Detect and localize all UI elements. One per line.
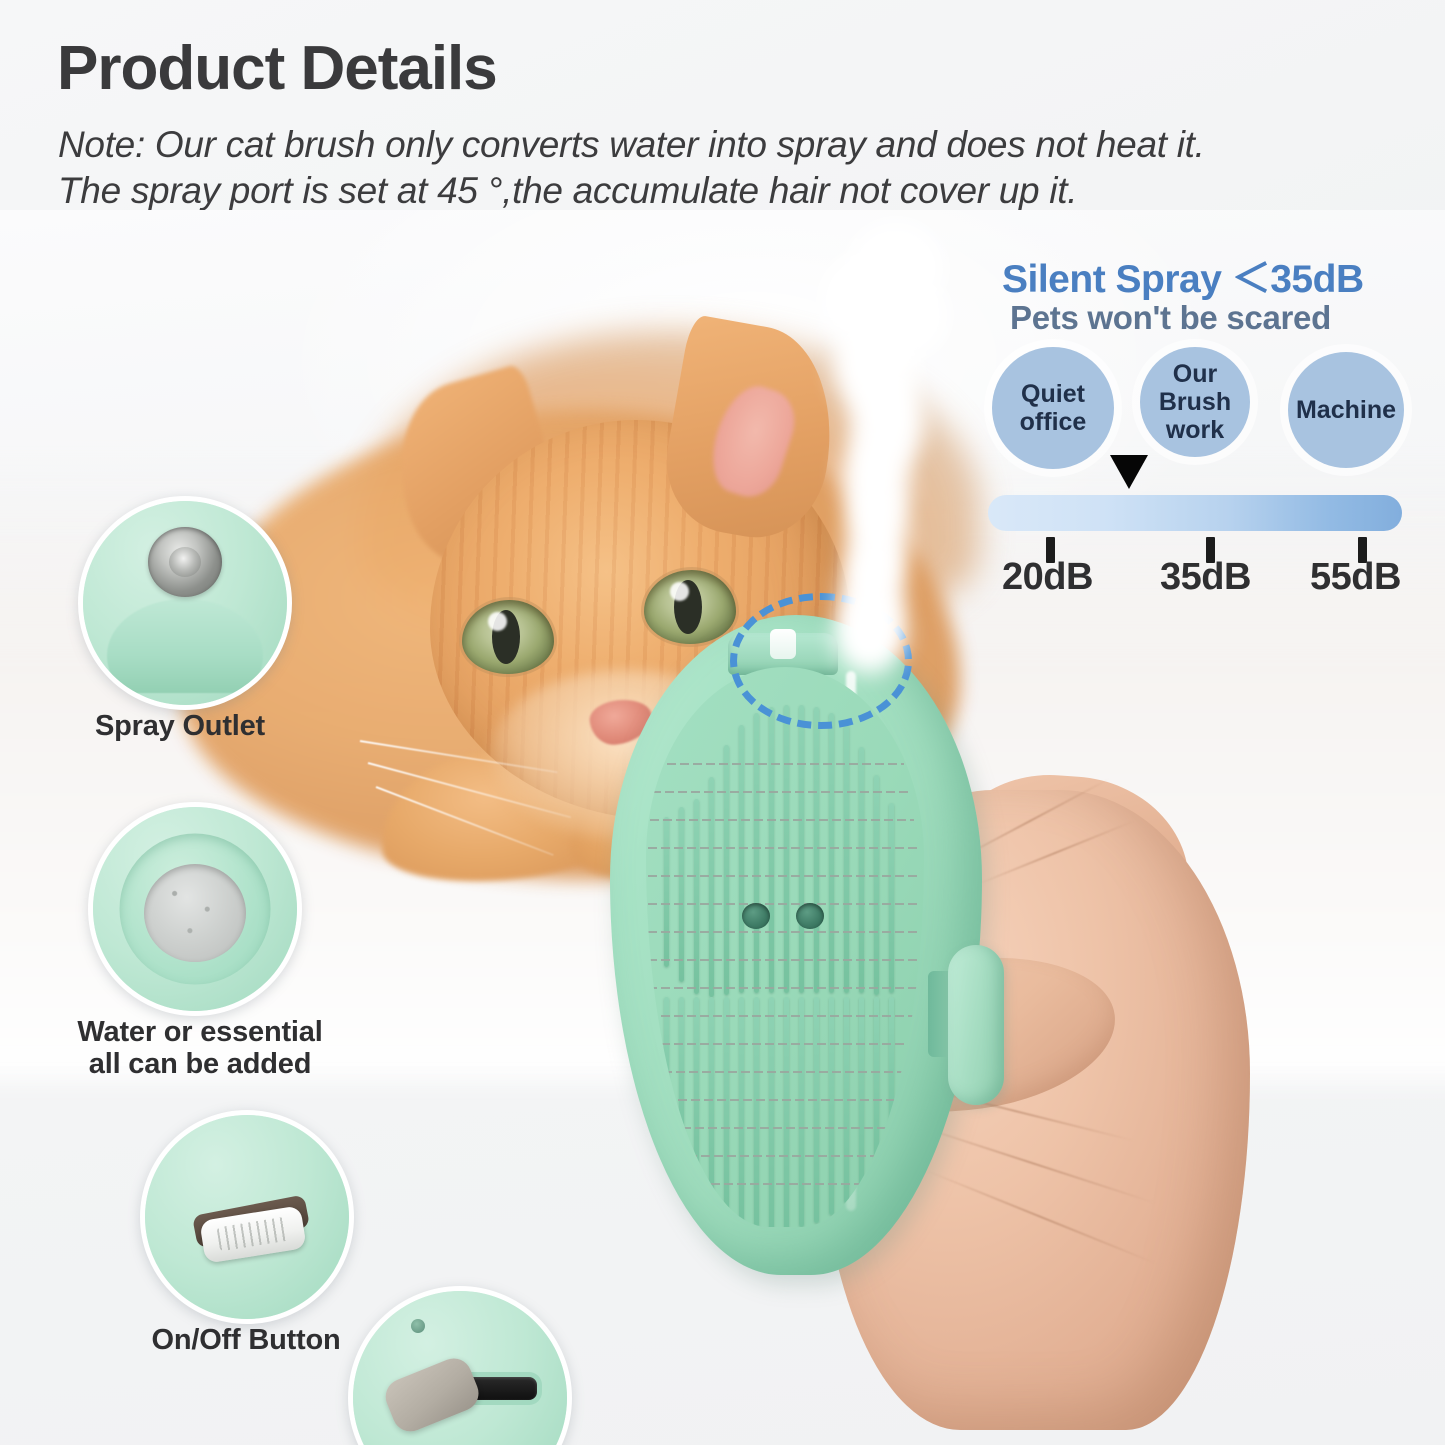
scale-label-35db: 35dB <box>1160 556 1251 599</box>
brush-release-tab[interactable] <box>948 945 1004 1105</box>
callout-image <box>145 1115 349 1319</box>
noise-panel-title: Silent Spray ＜35dB <box>1002 248 1364 304</box>
noise-bubble-our-brush: Our Brush work <box>1140 347 1250 457</box>
callout-charging-port <box>348 1286 572 1445</box>
callout-water-tank <box>88 802 302 1016</box>
callout-image <box>83 501 287 705</box>
spray-hole-right <box>796 903 824 929</box>
bubble-line-1: Machine <box>1296 396 1396 424</box>
bubble-line-2: Brush <box>1159 388 1231 416</box>
cat-eye-left <box>462 600 554 674</box>
callout-image <box>93 807 297 1011</box>
noise-bubble-machine: Machine <box>1288 352 1404 468</box>
callout-label-line-2: all can be added <box>50 1048 350 1080</box>
scale-label-20db: 20dB <box>1002 556 1093 599</box>
callout-label-water-tank: Water or essential all can be added <box>50 1016 350 1081</box>
bubble-line-2: office <box>1020 408 1087 436</box>
note-line-2: The spray port is set at 45 °,the accumu… <box>58 168 1418 214</box>
page-title: Product Details <box>57 38 497 100</box>
noise-panel-subtitle: Pets won't be scared <box>1010 299 1331 337</box>
cat-ear-inner <box>701 378 803 505</box>
tank-sponge-icon <box>144 864 246 962</box>
callout-label-line-1: Water or essential <box>50 1016 350 1048</box>
vent-hole-icon <box>411 1319 425 1333</box>
callout-image <box>353 1291 567 1445</box>
cat-steam-brush <box>610 615 1020 1275</box>
note-line-1: Note: Our cat brush only converts water … <box>58 122 1418 168</box>
product-details-page: Product Details Note: Our cat brush only… <box>0 0 1445 1445</box>
callout-label-on-off-button: On/Off Button <box>126 1324 366 1356</box>
bubble-line-1: Our <box>1159 360 1231 388</box>
callout-on-off-button <box>140 1110 354 1324</box>
spray-hole-left <box>742 903 770 929</box>
bubble-line-3: work <box>1159 416 1231 444</box>
spray-outlet-nozzle-icon <box>148 527 222 597</box>
callout-label-spray-outlet: Spray Outlet <box>70 710 290 742</box>
product-note: Note: Our cat brush only converts water … <box>58 122 1418 215</box>
noise-scale-bar <box>988 495 1402 531</box>
spray-mist <box>790 216 990 636</box>
callout-spray-outlet <box>78 496 292 710</box>
noise-bubble-quiet-office: Quiet office <box>992 347 1114 469</box>
bubble-line-1: Quiet <box>1020 380 1087 408</box>
scale-label-55db: 55dB <box>1310 556 1401 599</box>
noise-pointer-triangle-icon <box>1110 455 1148 489</box>
